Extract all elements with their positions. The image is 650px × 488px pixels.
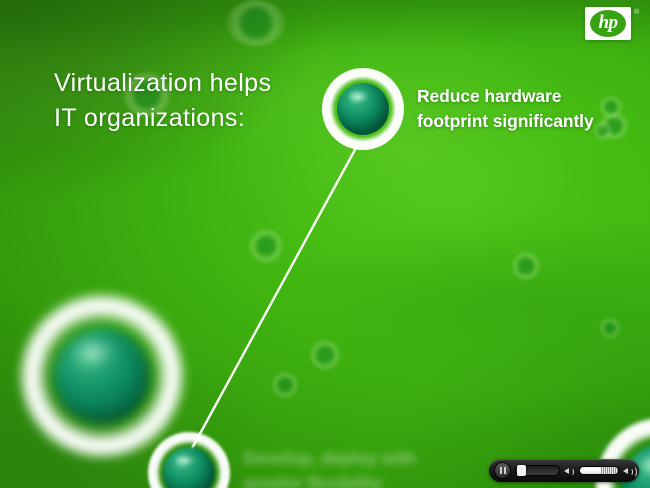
ghost-bubble-6: [512, 252, 540, 280]
volume-filled: [580, 467, 601, 474]
volume-high-icon[interactable]: [623, 465, 634, 477]
ghost-bubble-3: [249, 229, 283, 263]
volume-low-icon[interactable]: [564, 465, 575, 477]
hp-logo-text: hp: [598, 13, 617, 32]
callout-text-faded: Develop, deploy with greater flexibility: [244, 446, 459, 488]
volume-slider[interactable]: [579, 466, 619, 475]
page-title: Virtualization helps IT organizations:: [54, 66, 271, 135]
video-control-bar[interactable]: [489, 459, 639, 482]
slide-canvas: Virtualization helps IT organizations: R…: [0, 0, 650, 488]
bubble-orb: [337, 83, 389, 135]
progress-knob[interactable]: [517, 465, 526, 476]
background-top-shade: [0, 0, 650, 52]
bubble-node-top-right: [322, 68, 404, 150]
ghost-bubble-5: [310, 340, 340, 370]
registered-mark: ®: [634, 9, 639, 16]
pause-bar-left: [500, 467, 502, 474]
pause-bar-right: [504, 467, 506, 474]
bubble-orb: [54, 328, 150, 424]
callout-text-active: Reduce hardware footprint significantly: [417, 84, 632, 134]
bubble-node-large-left: [22, 296, 182, 456]
volume-remaining: [601, 467, 618, 474]
ghost-bubble-9: [600, 318, 620, 338]
ghost-bubble-2: [226, 0, 286, 46]
hp-logo: hp ®: [585, 7, 631, 40]
hp-logo-oval: hp: [590, 10, 626, 37]
ghost-bubble-4: [272, 372, 298, 398]
progress-slider[interactable]: [515, 465, 560, 476]
pause-button[interactable]: [494, 462, 511, 479]
